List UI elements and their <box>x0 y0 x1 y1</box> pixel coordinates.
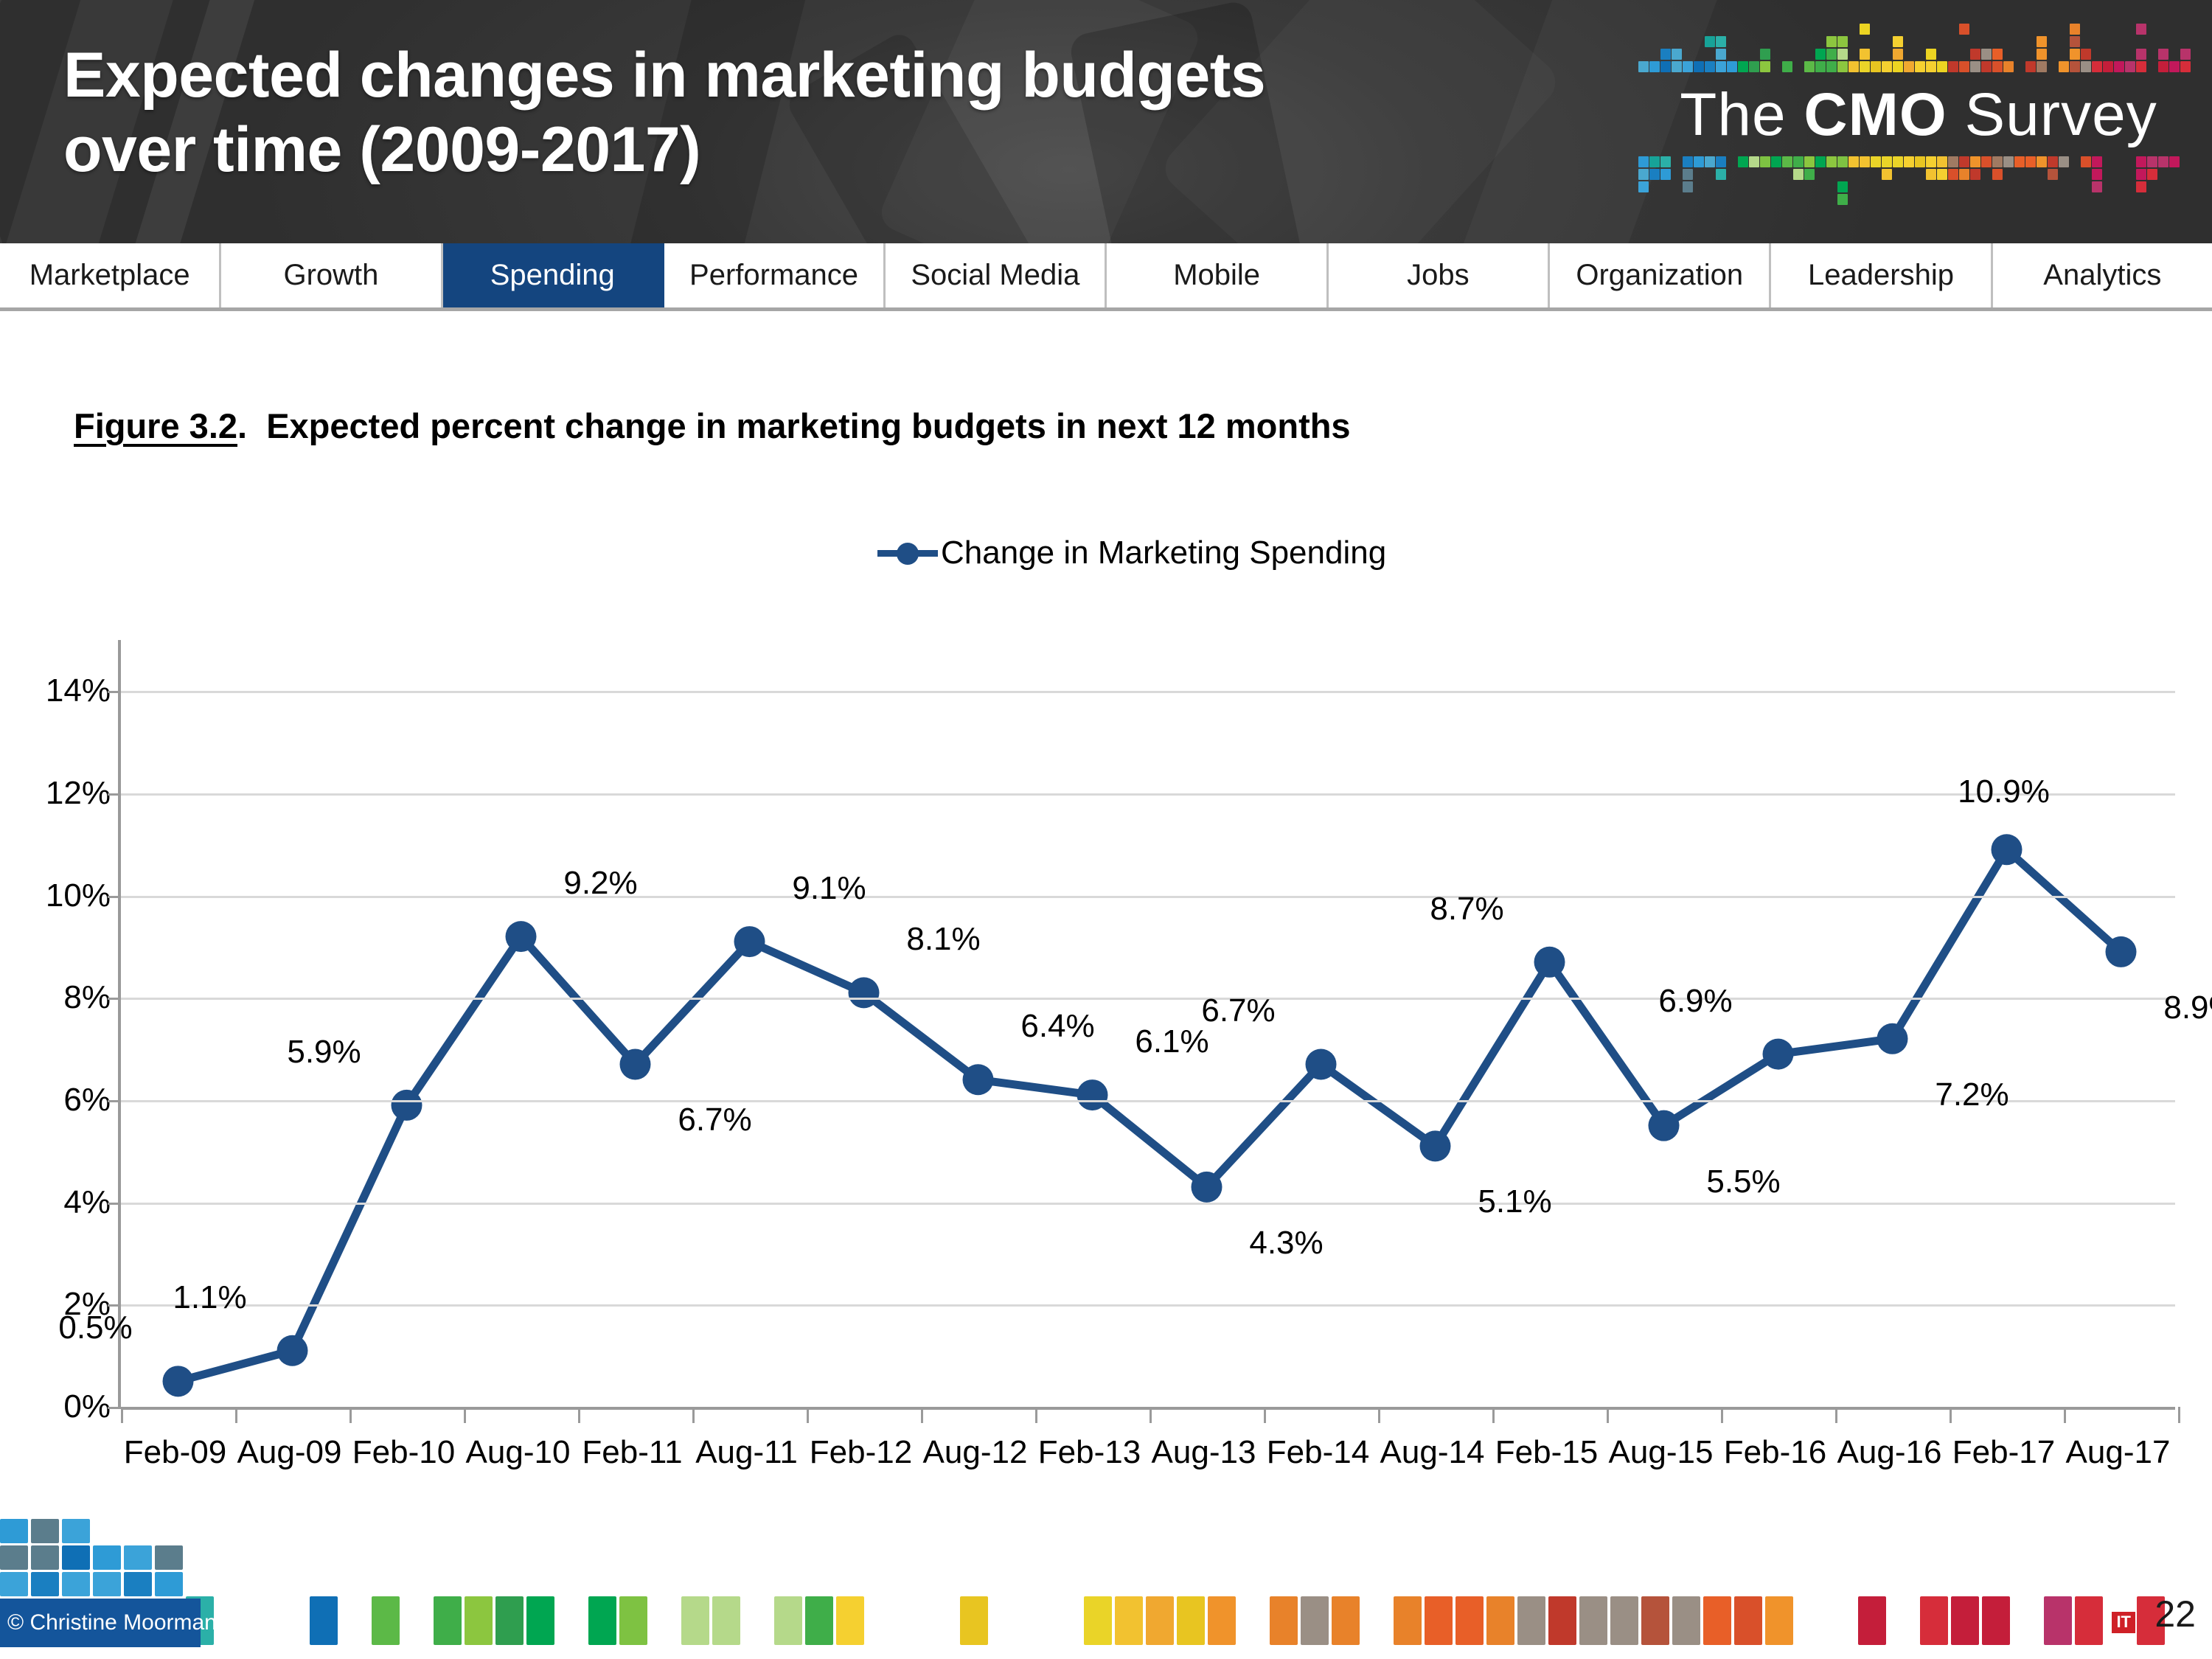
x-axis-tick <box>1264 1407 1266 1423</box>
mosaic-tile <box>1904 156 1914 167</box>
mosaic-tile <box>1860 156 1870 167</box>
gridline <box>121 793 2175 796</box>
x-axis-tick <box>692 1407 695 1423</box>
mosaic-tile <box>1548 1596 1576 1645</box>
data-point-label: 6.9% <box>1658 983 1732 1020</box>
mosaic-tile <box>0 1572 28 1596</box>
mosaic-tile <box>1716 61 1726 72</box>
x-axis-tick-label: Feb-12 <box>810 1434 912 1471</box>
x-axis-tick <box>1835 1407 1837 1423</box>
mosaic-tile <box>1992 169 2003 180</box>
mosaic-tile <box>1716 49 1726 60</box>
chart-legend: Change in Marketing Spending <box>877 535 1386 571</box>
mosaic-tile <box>1782 156 1792 167</box>
mosaic-tile <box>1683 61 1693 72</box>
mosaic-tile <box>1992 61 2003 72</box>
mosaic-tile <box>774 1596 802 1645</box>
mosaic-tile <box>1981 61 1992 72</box>
mosaic-tile <box>93 1545 121 1570</box>
logo-mosaic-top <box>1638 6 2199 74</box>
y-axis-tick <box>108 1203 121 1205</box>
tab-analytics[interactable]: Analytics <box>1993 243 2212 307</box>
mosaic-tile <box>2059 61 2069 72</box>
mosaic-tile <box>1705 36 1715 47</box>
legend-line-marker-icon <box>877 538 938 568</box>
y-axis-tick <box>108 1100 121 1102</box>
x-axis-tick <box>1150 1407 1152 1423</box>
mosaic-tile <box>1926 156 1936 167</box>
mosaic-tile <box>1146 1596 1174 1645</box>
gridline <box>121 1407 2175 1410</box>
data-point <box>1649 1110 1680 1141</box>
y-axis-tick-label: 12% <box>7 775 111 812</box>
mosaic-tile <box>1848 61 1859 72</box>
mosaic-tile <box>1915 156 1925 167</box>
mosaic-tile <box>1893 36 1903 47</box>
data-point-label: 5.1% <box>1478 1183 1551 1220</box>
x-axis-tick-label: Feb-11 <box>582 1434 682 1471</box>
x-axis-tick <box>121 1407 123 1423</box>
x-axis-tick-label: Feb-17 <box>1952 1434 2055 1471</box>
mosaic-tile <box>1837 36 1848 47</box>
mosaic-tile <box>1749 61 1759 72</box>
mosaic-tile <box>1871 61 1881 72</box>
data-point-label: 8.7% <box>1430 891 1503 928</box>
footer-strip <box>0 1519 2212 1659</box>
mosaic-tile <box>1826 156 1837 167</box>
mosaic-tile <box>1672 49 1682 60</box>
mosaic-tile <box>31 1545 59 1570</box>
mosaic-tile <box>2103 61 2113 72</box>
mosaic-tile <box>1486 1596 1514 1645</box>
mosaic-tile <box>2125 61 2135 72</box>
mosaic-tile <box>2025 156 2036 167</box>
data-point-label: 6.7% <box>1201 992 1275 1029</box>
mosaic-tile <box>1992 156 2003 167</box>
mosaic-tile <box>526 1596 554 1645</box>
mosaic-tile <box>1734 1596 1762 1645</box>
data-point <box>1306 1048 1337 1079</box>
mosaic-tile <box>495 1596 524 1645</box>
mosaic-tile <box>1826 61 1837 72</box>
data-point <box>163 1366 194 1397</box>
mosaic-tile <box>2180 49 2191 60</box>
y-axis-tick-label: 10% <box>7 877 111 914</box>
tab-spending[interactable]: Spending <box>443 243 664 307</box>
mosaic-tile <box>1970 49 1980 60</box>
mosaic-tile <box>2070 49 2080 60</box>
mosaic-tile <box>1893 49 1903 60</box>
x-axis-tick-label: Feb-09 <box>124 1434 226 1471</box>
mosaic-tile <box>1860 24 1870 35</box>
mosaic-tile <box>1694 156 1704 167</box>
mosaic-tile <box>62 1545 90 1570</box>
mosaic-tile <box>1804 169 1815 180</box>
x-axis-tick-label: Aug-17 <box>2066 1434 2171 1471</box>
mosaic-tile <box>1749 156 1759 167</box>
mosaic-tile <box>1208 1596 1236 1645</box>
mosaic-tile <box>1982 1596 2010 1645</box>
mosaic-tile <box>1716 36 1726 47</box>
page-number: 22 <box>2154 1593 2196 1635</box>
mosaic-tile <box>1649 61 1660 72</box>
x-axis-tick-label: Aug-10 <box>466 1434 571 1471</box>
x-axis-tick <box>1035 1407 1037 1423</box>
data-point-label: 8.9% <box>2163 990 2212 1026</box>
mosaic-tile <box>1672 61 1682 72</box>
mosaic-tile <box>2092 61 2102 72</box>
mosaic-tile <box>1760 49 1770 60</box>
mosaic-tile <box>1705 156 1715 167</box>
x-axis-tick-label: Aug-16 <box>1837 1434 1942 1471</box>
mosaic-tile <box>2169 61 2180 72</box>
mosaic-tile <box>1981 49 1992 60</box>
x-axis-tick-label: Feb-14 <box>1267 1434 1369 1471</box>
mosaic-tile <box>1703 1596 1731 1645</box>
mosaic-tile <box>2014 156 2025 167</box>
mosaic-tile <box>1771 156 1781 167</box>
mosaic-tile <box>124 1572 152 1596</box>
mosaic-tile <box>1837 49 1848 60</box>
mosaic-tile <box>1893 156 1903 167</box>
mosaic-tile <box>124 1545 152 1570</box>
y-axis-tick <box>108 1304 121 1307</box>
x-axis-tick <box>921 1407 923 1423</box>
mosaic-tile <box>1649 156 1660 167</box>
mosaic-tile <box>1455 1596 1484 1645</box>
mosaic-tile <box>1826 36 1837 47</box>
mosaic-tile <box>1760 156 1770 167</box>
x-axis-tick <box>1950 1407 1952 1423</box>
x-axis-tick-label: Feb-15 <box>1495 1434 1598 1471</box>
data-point <box>1077 1079 1108 1110</box>
it-logo-icon: IT <box>2112 1612 2135 1633</box>
mosaic-tile <box>1804 61 1815 72</box>
mosaic-tile <box>1705 61 1715 72</box>
tab-social-media[interactable]: Social Media <box>886 243 1107 307</box>
mosaic-tile <box>1638 181 1649 192</box>
section-tab-bar[interactable]: MarketplaceGrowthSpendingPerformanceSoci… <box>0 243 2212 311</box>
mosaic-tile <box>1858 1596 1886 1645</box>
data-point <box>849 977 880 1008</box>
tab-leadership[interactable]: Leadership <box>1771 243 1992 307</box>
mosaic-tile <box>1882 61 1892 72</box>
data-point <box>1763 1039 1794 1070</box>
mosaic-tile <box>2180 61 2191 72</box>
mosaic-tile <box>2044 1596 2072 1645</box>
mosaic-tile <box>0 1519 28 1543</box>
tab-organization[interactable]: Organization <box>1550 243 1771 307</box>
x-axis-tick-label: Aug-12 <box>923 1434 1028 1471</box>
mosaic-tile <box>836 1596 864 1645</box>
mosaic-tile <box>712 1596 740 1645</box>
logo-cmo: CMO <box>1804 80 1947 150</box>
data-point-label: 9.2% <box>563 865 637 902</box>
mosaic-tile <box>465 1596 493 1645</box>
cmo-survey-logo: The CMO Survey <box>1638 6 2199 233</box>
y-axis-labels: 0%2%4%6%8%10%12%14% <box>0 619 111 1423</box>
gridline <box>121 1304 2175 1307</box>
slide: Expected changes in marketing budgets ov… <box>0 0 2212 1659</box>
mosaic-tile <box>619 1596 647 1645</box>
figure-number: Figure 3.2 <box>74 406 237 445</box>
mosaic-tile <box>1937 169 1947 180</box>
mosaic-tile <box>1815 49 1826 60</box>
mosaic-tile <box>1970 61 1980 72</box>
copyright-badge: © Christine Moorman <box>0 1599 201 1647</box>
x-axis-tick-label: Feb-13 <box>1038 1434 1141 1471</box>
mosaic-tile <box>681 1596 709 1645</box>
page-title: Expected changes in marketing budgets ov… <box>63 38 1553 188</box>
mosaic-tile <box>1579 1596 1607 1645</box>
y-axis-tick-label: 0% <box>7 1388 111 1425</box>
mosaic-tile <box>2092 156 2102 167</box>
mosaic-tile <box>62 1519 90 1543</box>
mosaic-tile <box>1959 24 1969 35</box>
mosaic-tile <box>2037 156 2047 167</box>
data-point-label: 1.1% <box>173 1279 246 1316</box>
mosaic-tile <box>1815 156 1826 167</box>
data-point-label: 6.7% <box>678 1102 751 1138</box>
data-point-label: 10.9% <box>1958 773 2050 810</box>
mosaic-tile <box>1115 1596 1143 1645</box>
mosaic-tile <box>1882 169 1892 180</box>
mosaic-tile <box>2081 61 2091 72</box>
data-point <box>734 926 765 957</box>
mosaic-tile <box>1716 156 1726 167</box>
data-point-label: 6.4% <box>1020 1008 1094 1045</box>
mosaic-tile <box>1926 61 1936 72</box>
x-axis-tick-label: Aug-15 <box>1609 1434 1714 1471</box>
mosaic-tile <box>2169 156 2180 167</box>
data-point-label: 6.1% <box>1135 1023 1208 1060</box>
mosaic-tile <box>1837 194 1848 205</box>
data-point <box>2106 936 2137 967</box>
mosaic-tile <box>1694 61 1704 72</box>
mosaic-tile <box>2003 61 2014 72</box>
mosaic-tile <box>1959 61 1969 72</box>
mosaic-tile <box>1893 61 1903 72</box>
mosaic-tile <box>1793 156 1804 167</box>
mosaic-tile <box>2070 36 2080 47</box>
data-point <box>1877 1023 1908 1054</box>
mosaic-tile <box>1860 49 1870 60</box>
mosaic-tile <box>2070 24 2080 35</box>
gridline <box>121 1203 2175 1205</box>
mosaic-tile <box>1683 169 1693 180</box>
mosaic-tile <box>0 1545 28 1570</box>
data-point <box>1992 834 2023 865</box>
mosaic-tile <box>1937 61 1947 72</box>
mosaic-tile <box>2075 1596 2103 1645</box>
mosaic-tile <box>2081 49 2091 60</box>
tab-jobs[interactable]: Jobs <box>1329 243 1550 307</box>
x-axis-tick <box>578 1407 580 1423</box>
tab-performance[interactable]: Performance <box>664 243 886 307</box>
mosaic-tile <box>2037 36 2047 47</box>
y-axis-tick <box>108 691 121 693</box>
mosaic-tile <box>2037 61 2047 72</box>
mosaic-tile <box>1926 49 1936 60</box>
mosaic-tile <box>1765 1596 1793 1645</box>
x-axis-tick <box>349 1407 352 1423</box>
data-point-label: 0.5% <box>58 1310 132 1346</box>
data-point-label: 4.3% <box>1249 1225 1323 1262</box>
mosaic-tile <box>1959 156 1969 167</box>
mosaic-tile <box>1804 156 1815 167</box>
mosaic-tile <box>1948 61 1958 72</box>
tab-marketplace[interactable]: Marketplace <box>0 243 221 307</box>
figure-caption: . Expected percent change in marketing b… <box>237 406 1351 445</box>
data-point <box>963 1064 994 1095</box>
mosaic-tile <box>1904 61 1914 72</box>
mosaic-tile <box>960 1596 988 1645</box>
mosaic-tile <box>31 1572 59 1596</box>
mosaic-tile <box>1332 1596 1360 1645</box>
tab-mobile[interactable]: Mobile <box>1107 243 1328 307</box>
mosaic-tile <box>1992 49 2003 60</box>
gridline <box>121 691 2175 693</box>
gridline <box>121 896 2175 898</box>
data-point <box>1420 1130 1451 1161</box>
x-axis-tick <box>1378 1407 1380 1423</box>
y-axis-tick <box>108 896 121 898</box>
mosaic-tile <box>1948 169 1958 180</box>
mosaic-tile <box>1951 1596 1979 1645</box>
mosaic-tile <box>2147 169 2157 180</box>
mosaic-tile <box>1882 156 1892 167</box>
mosaic-tile <box>1920 1596 1948 1645</box>
mosaic-tile <box>2136 169 2146 180</box>
mosaic-tile <box>2092 181 2102 192</box>
mosaic-tile <box>1638 61 1649 72</box>
mosaic-tile <box>1848 156 1859 167</box>
data-point <box>620 1048 651 1079</box>
mosaic-tile <box>1727 61 1737 72</box>
mosaic-tile <box>1270 1596 1298 1645</box>
mosaic-tile <box>1683 181 1693 192</box>
tab-growth[interactable]: Growth <box>221 243 442 307</box>
x-axis-tick <box>2178 1407 2180 1423</box>
line-chart: 0%2%4%6%8%10%12%14% Feb-09Aug-09Feb-10Au… <box>0 619 2212 1504</box>
logo-survey: Survey <box>1947 80 2157 150</box>
mosaic-tile <box>2114 61 2124 72</box>
x-axis-tick <box>464 1407 466 1423</box>
x-axis-tick <box>1607 1407 1609 1423</box>
mosaic-tile <box>2059 156 2069 167</box>
mosaic-tile <box>1937 156 1947 167</box>
y-axis-tick <box>108 793 121 796</box>
mosaic-tile <box>310 1596 338 1645</box>
mosaic-tile <box>1782 61 1792 72</box>
logo-wordmark: The CMO Survey <box>1638 74 2199 156</box>
x-axis-tick-label: Aug-14 <box>1380 1434 1485 1471</box>
x-axis-tick-label: Aug-09 <box>237 1434 342 1471</box>
mosaic-tile <box>2158 156 2168 167</box>
mosaic-tile <box>2081 156 2091 167</box>
mosaic-tile <box>2048 156 2058 167</box>
mosaic-tile <box>2136 49 2146 60</box>
data-point <box>392 1090 422 1121</box>
data-point <box>1192 1172 1222 1203</box>
x-axis-tick <box>1492 1407 1495 1423</box>
data-point <box>506 921 537 952</box>
mosaic-tile <box>1638 156 1649 167</box>
mosaic-tile <box>1425 1596 1453 1645</box>
mosaic-tile <box>155 1572 183 1596</box>
mosaic-tile <box>1649 169 1660 180</box>
mosaic-tile <box>93 1572 121 1596</box>
mosaic-tile <box>2070 61 2080 72</box>
y-axis-tick <box>108 1407 121 1409</box>
x-axis-tick-label: Aug-13 <box>1152 1434 1256 1471</box>
logo-mosaic-bottom <box>1638 156 2199 230</box>
x-axis-labels: Feb-09Aug-09Feb-10Aug-10Feb-11Aug-11Feb-… <box>118 1434 2175 1486</box>
mosaic-tile <box>2136 24 2146 35</box>
x-axis-tick-label: Feb-16 <box>1724 1434 1826 1471</box>
mosaic-tile <box>2158 49 2168 60</box>
figure-title: Figure 3.2. Expected percent change in m… <box>74 406 1351 446</box>
mosaic-tile <box>1860 61 1870 72</box>
mosaic-tile <box>588 1596 616 1645</box>
mosaic-tile <box>1641 1596 1669 1645</box>
mosaic-tile <box>1716 169 1726 180</box>
mosaic-tile <box>2136 61 2146 72</box>
mosaic-tile <box>1760 61 1770 72</box>
x-axis-tick <box>1721 1407 1723 1423</box>
header-banner: Expected changes in marketing budgets ov… <box>0 0 2212 243</box>
mosaic-tile <box>2025 61 2036 72</box>
mosaic-tile <box>1610 1596 1638 1645</box>
y-axis-tick-label: 8% <box>7 979 111 1016</box>
mosaic-tile <box>2003 156 2014 167</box>
mosaic-tile <box>1517 1596 1545 1645</box>
mosaic-tile <box>1738 156 1748 167</box>
data-point-label: 5.9% <box>287 1034 361 1071</box>
mosaic-tile <box>1738 61 1748 72</box>
mosaic-tile <box>2092 169 2102 180</box>
mosaic-tile <box>1638 169 1649 180</box>
mosaic-tile <box>1871 156 1881 167</box>
data-point-label: 8.1% <box>906 921 980 958</box>
mosaic-tile <box>1970 169 1980 180</box>
mosaic-tile <box>1837 156 1848 167</box>
mosaic-tile <box>1970 156 1980 167</box>
mosaic-tile <box>1672 1596 1700 1645</box>
mosaic-tile <box>1837 61 1848 72</box>
mosaic-tile <box>1837 181 1848 192</box>
data-point-label: 9.1% <box>792 870 866 907</box>
gridline <box>121 998 2175 1000</box>
data-point <box>277 1335 308 1366</box>
mosaic-tile <box>1926 169 1936 180</box>
mosaic-tile <box>62 1572 90 1596</box>
mosaic-tile <box>2048 169 2058 180</box>
x-axis-tick-label: Feb-10 <box>352 1434 455 1471</box>
mosaic-tile <box>1683 156 1693 167</box>
y-axis-tick-label: 6% <box>7 1082 111 1119</box>
mosaic-tile <box>31 1519 59 1543</box>
mosaic-tile <box>1815 61 1826 72</box>
logo-the: The <box>1680 80 1804 150</box>
data-point-label: 5.5% <box>1706 1164 1780 1200</box>
mosaic-tile <box>1948 156 1958 167</box>
mosaic-tile <box>1959 169 1969 180</box>
mosaic-tile <box>1826 49 1837 60</box>
mosaic-tile <box>1660 49 1671 60</box>
data-point-label: 7.2% <box>1935 1077 2008 1113</box>
mosaic-tile <box>1394 1596 1422 1645</box>
